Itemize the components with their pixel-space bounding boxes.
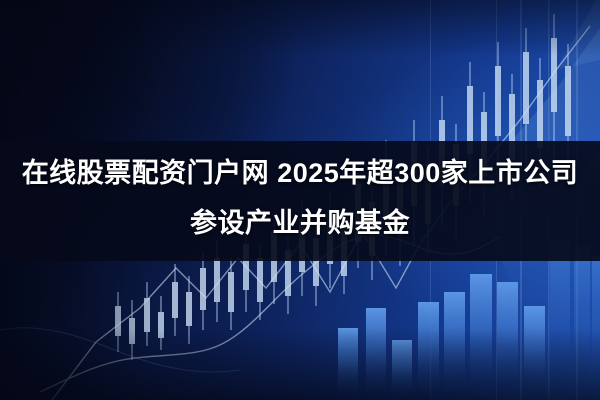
headline-line-2: 参设产业并购基金 bbox=[14, 198, 586, 248]
bar-chart-group bbox=[338, 240, 600, 400]
banner-image: 在线股票配资门户网 2025年超300家上市公司 参设产业并购基金 bbox=[0, 0, 600, 400]
headline-line-1: 在线股票配资门户网 2025年超300家上市公司 bbox=[14, 148, 586, 198]
page-title: 在线股票配资门户网 2025年超300家上市公司 参设产业并购基金 bbox=[0, 148, 600, 248]
